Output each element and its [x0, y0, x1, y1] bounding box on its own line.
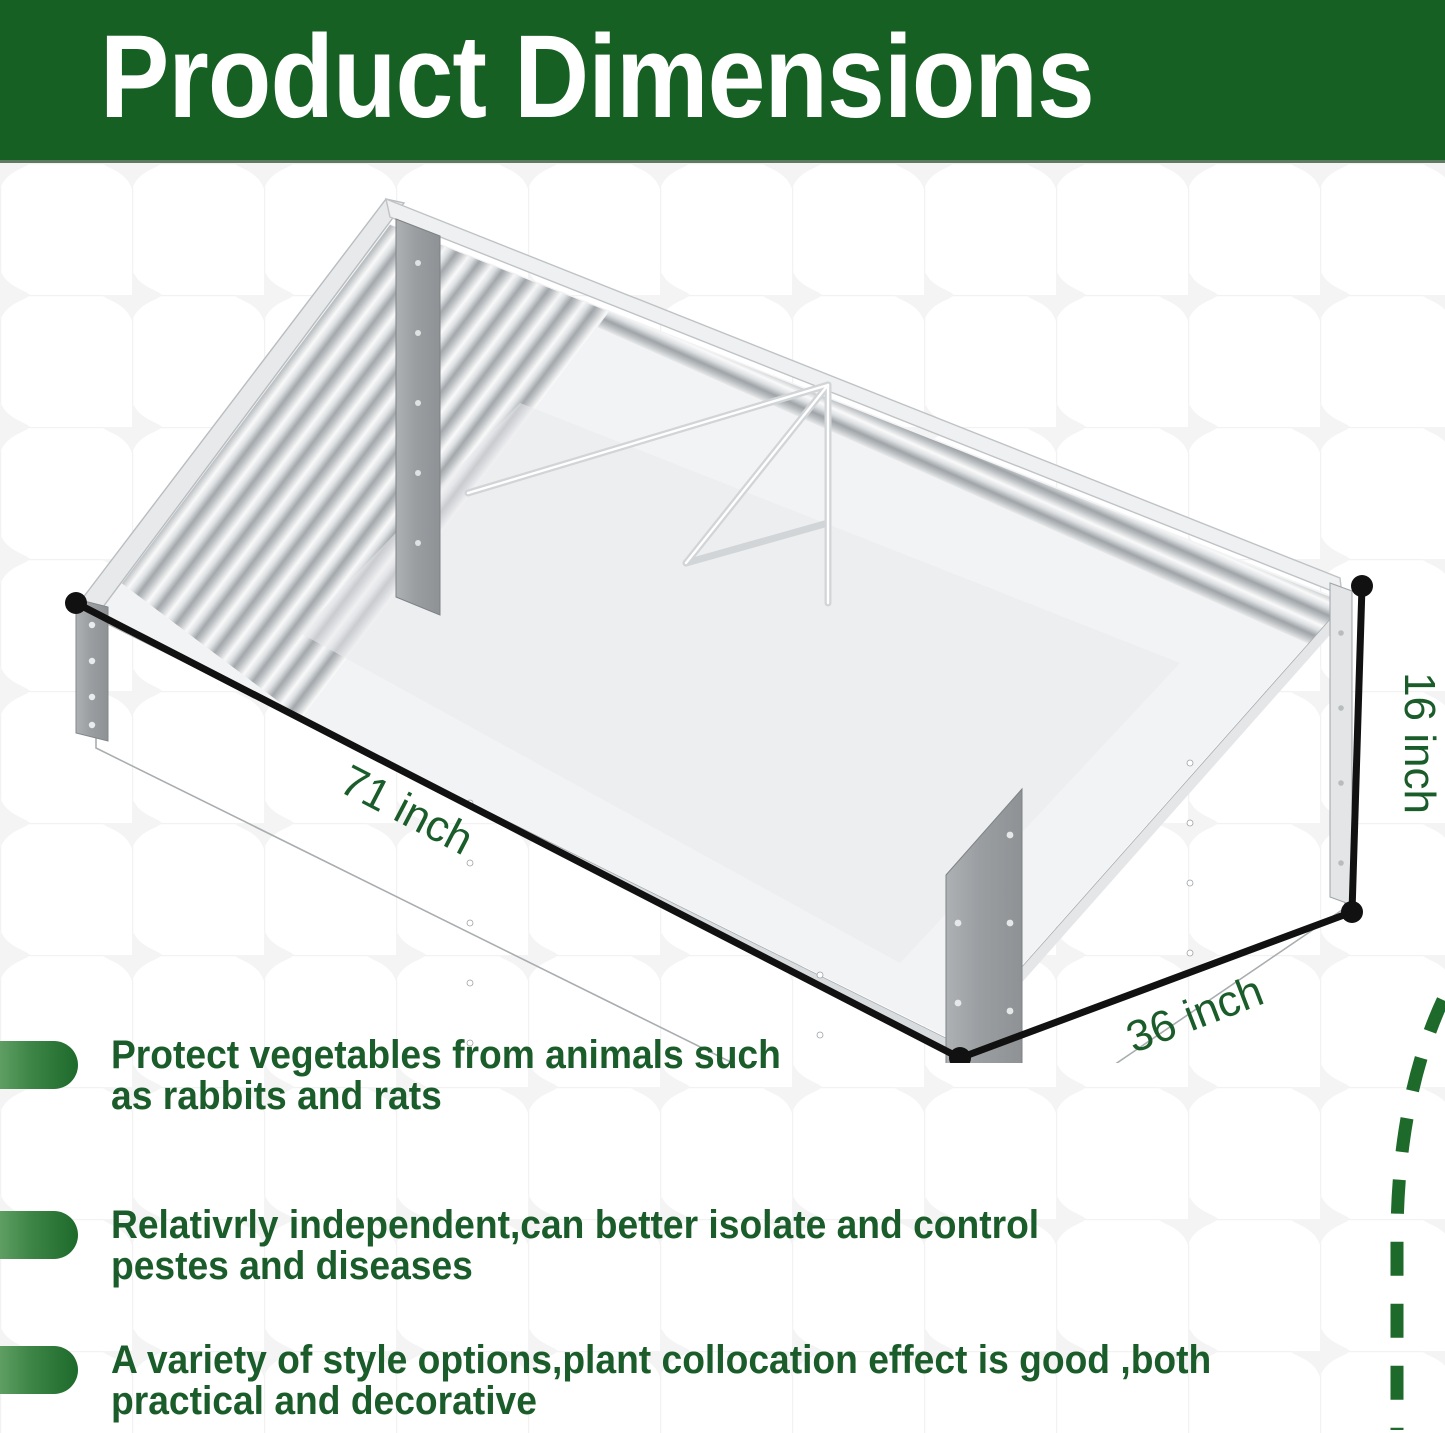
bullet-marker-icon	[0, 1041, 78, 1089]
product-illustration-raised-garden-bed: 71 inch 36 inch 16 inch	[0, 163, 1445, 1063]
feature-item-isolate: Relativrly independent,can better isolat…	[0, 1205, 1109, 1287]
page-title: Product Dimensions	[100, 18, 1094, 136]
dimension-line-height	[1352, 586, 1362, 912]
bullet-marker-icon	[0, 1346, 78, 1394]
bullet-marker-icon	[0, 1211, 78, 1259]
post-center-back	[396, 219, 440, 615]
dashed-arc-decoration	[1315, 990, 1445, 1433]
dimension-label-width: 36 inch	[1120, 966, 1270, 1063]
feature-text: A variety of style options,plant colloca…	[111, 1340, 1211, 1422]
endpoint-bottom-right	[1341, 901, 1363, 923]
header-banner: Product Dimensions	[0, 0, 1445, 163]
post-far-right	[1330, 583, 1352, 905]
endpoint-top-right	[1351, 575, 1373, 597]
feature-text: Protect vegetables from animals such as …	[111, 1035, 781, 1117]
feature-text: Relativrly independent,can better isolat…	[111, 1205, 1039, 1287]
feature-item-animals: Protect vegetables from animals such as …	[0, 1035, 831, 1117]
dimension-label-height: 16 inch	[1395, 672, 1444, 814]
feature-item-style: A variety of style options,plant colloca…	[0, 1340, 1294, 1422]
endpoint-left	[65, 592, 87, 614]
